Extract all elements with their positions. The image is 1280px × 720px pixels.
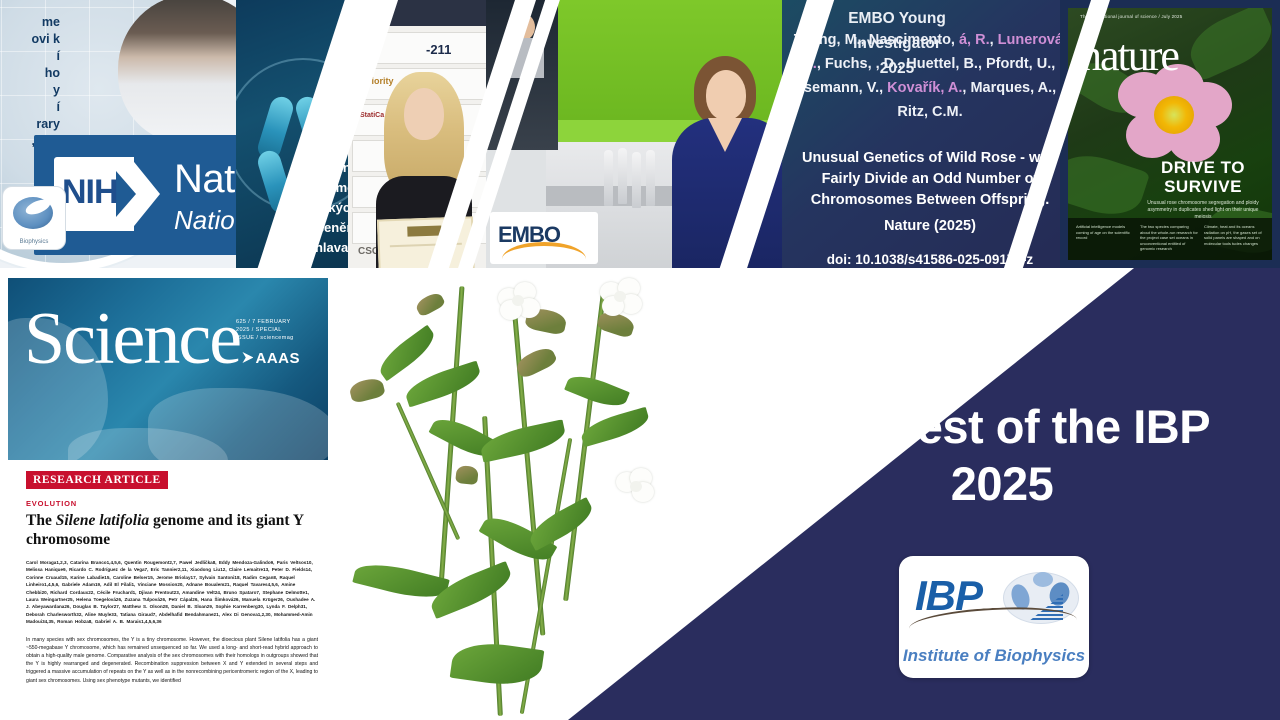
research-article-badge: RESEARCH ARTICLE bbox=[26, 471, 168, 489]
nature-cover-image: The international journal of science / J… bbox=[1068, 8, 1272, 260]
aaas-mark-icon bbox=[242, 352, 253, 363]
ibp-small-badge: Biophysics bbox=[2, 186, 66, 250]
czech-line: ovi k bbox=[0, 31, 60, 48]
white-flower bbox=[600, 278, 642, 316]
czech-line: ho bbox=[0, 65, 60, 82]
czech-line: me bbox=[0, 14, 60, 31]
science-masthead: Science bbox=[24, 302, 240, 376]
slide-root: me ovi k í ho y í rary , kde ně 100 prac… bbox=[0, 0, 1280, 720]
white-flower bbox=[616, 468, 658, 506]
footer-item: The two species comparing about the whol… bbox=[1140, 224, 1198, 252]
face-shape bbox=[404, 88, 444, 140]
face-shape bbox=[706, 70, 746, 120]
science-cover-image: Science 625 / 7 FEBRUARY 2025 / SPECIAL … bbox=[8, 278, 328, 460]
aaas-logo: AAAS bbox=[242, 350, 300, 367]
title-species: Silene latifolia bbox=[56, 512, 149, 529]
article-authors: Carol Moraga1,2,3, Catarina Branco1,4,5,… bbox=[26, 559, 318, 626]
article-text-block: RESEARCH ARTICLE EVOLUTION The Silene la… bbox=[26, 470, 318, 685]
nih-logo-text: NIH bbox=[62, 173, 118, 212]
publication-authors: Zhang, M., Nascimento, á, R., Lunerová, … bbox=[788, 28, 1072, 124]
page-title: The best of the IBP 2025 bbox=[752, 398, 1252, 512]
nih-title: Nati bbox=[174, 157, 243, 202]
embo-arc-shape bbox=[502, 242, 586, 268]
article-title: The Silene latifolia genome and its gian… bbox=[26, 511, 318, 549]
top-collage-band: me ovi k í ho y í rary , kde ně 100 prac… bbox=[0, 0, 1280, 268]
flower-center bbox=[1154, 96, 1194, 134]
sponsor-logo-211: -211 bbox=[426, 42, 451, 57]
aaas-text: AAAS bbox=[255, 350, 300, 367]
czech-line: í bbox=[0, 48, 60, 65]
title-part: The bbox=[26, 512, 56, 529]
czech-line: y bbox=[0, 82, 60, 99]
footer-item: Artificial intelligence models coming of… bbox=[1076, 224, 1134, 241]
nature-cover-footer: Artificial intelligence models coming of… bbox=[1068, 218, 1272, 260]
ibp-logo: IBP Institute of Biophysics bbox=[899, 556, 1089, 678]
silene-latifolia-plant-photo bbox=[330, 276, 680, 720]
nature-headline: DRIVE TO SURVIVE bbox=[1144, 158, 1262, 196]
badge-caption: Biophysics bbox=[3, 239, 65, 245]
nih-subtitle: Natio bbox=[174, 205, 235, 236]
article-abstract: In many species with sex chromosomes, th… bbox=[26, 636, 318, 685]
embo-logo-icon: EMBO bbox=[490, 212, 598, 264]
footer-item: Climate, heat and its oceans radiation o… bbox=[1204, 224, 1262, 246]
science-issue-meta: 625 / 7 FEBRUARY 2025 / SPECIAL ISSUE / … bbox=[236, 318, 300, 342]
logo-notch-shape bbox=[116, 171, 136, 217]
nih-logo-icon: NIH bbox=[54, 157, 160, 231]
article-section-label: EVOLUTION bbox=[26, 499, 318, 508]
science-article-panel: Science 625 / 7 FEBRUARY 2025 / SPECIAL … bbox=[8, 278, 328, 720]
white-flower bbox=[498, 282, 540, 320]
czech-line: rary bbox=[0, 116, 60, 133]
czech-line: í bbox=[0, 99, 60, 116]
ibp-subtitle: Institute of Biophysics bbox=[899, 646, 1089, 666]
cell-blob-shape bbox=[1033, 572, 1053, 587]
publication-doi: doi: 10.1038/s41586-025-09171-z bbox=[788, 252, 1072, 267]
neckline-shape bbox=[708, 118, 742, 152]
